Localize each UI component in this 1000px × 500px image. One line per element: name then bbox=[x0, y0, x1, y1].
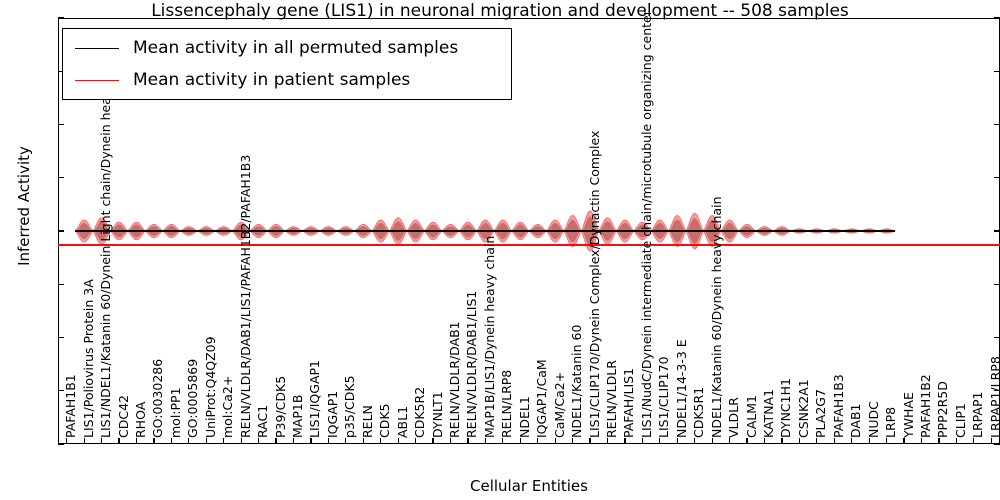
permuted-mean-segment bbox=[826, 230, 843, 232]
permuted-mean-segment bbox=[669, 230, 686, 232]
permuted-mean-segment bbox=[145, 230, 162, 232]
permuted-mean-segment bbox=[424, 230, 441, 232]
legend-item-patient: Mean activity in patient samples bbox=[75, 65, 410, 95]
permuted-mean-segment bbox=[546, 230, 563, 232]
permuted-mean-segment bbox=[198, 230, 215, 232]
permuted-mean-segment bbox=[860, 230, 877, 232]
permuted-mean-segment bbox=[878, 230, 895, 232]
permuted-mean-segment bbox=[302, 230, 319, 232]
chart-title: Lissencephaly gene (LIS1) in neuronal mi… bbox=[0, 1, 1000, 21]
permuted-mean-segment bbox=[163, 230, 180, 232]
permuted-mean-segment bbox=[355, 230, 372, 232]
permuted-mean-segment bbox=[686, 230, 703, 232]
permuted-mean-segment bbox=[808, 230, 825, 232]
permuted-mean-segment bbox=[128, 230, 145, 232]
permuted-mean-segment bbox=[407, 230, 424, 232]
permuted-mean-segment bbox=[180, 230, 197, 232]
chart-root: Lissencephaly gene (LIS1) in neuronal mi… bbox=[0, 0, 1000, 500]
legend-label-patient: Mean activity in patient samples bbox=[133, 70, 410, 90]
permuted-mean-segment bbox=[442, 230, 459, 232]
permuted-mean-segment bbox=[285, 230, 302, 232]
permuted-mean-segment bbox=[773, 230, 790, 232]
legend-item-permuted: Mean activity in all permuted samples bbox=[75, 33, 458, 63]
permuted-mean-segment bbox=[791, 230, 808, 232]
patient-mean-line bbox=[58, 244, 1000, 246]
permuted-mean-segment bbox=[843, 230, 860, 232]
permuted-mean-segment bbox=[372, 230, 389, 232]
legend-line-permuted-icon bbox=[75, 48, 119, 49]
permuted-mean-segment bbox=[616, 230, 633, 232]
permuted-mean-segment bbox=[267, 230, 284, 232]
legend-label-permuted: Mean activity in all permuted samples bbox=[133, 38, 458, 58]
legend-line-patient-icon bbox=[75, 80, 119, 81]
legend: Mean activity in all permuted samples Me… bbox=[62, 28, 512, 100]
permuted-mean-segment bbox=[337, 230, 354, 232]
permuted-mean-segment bbox=[512, 230, 529, 232]
permuted-mean-segment bbox=[389, 230, 406, 232]
permuted-mean-segment bbox=[215, 230, 232, 232]
permuted-mean-segment bbox=[564, 230, 581, 232]
permuted-mean-segment bbox=[529, 230, 546, 232]
permuted-mean-segment bbox=[75, 230, 92, 232]
permuted-mean-segment bbox=[320, 230, 337, 232]
permuted-mean-segment bbox=[494, 230, 511, 232]
permuted-mean-segment bbox=[756, 230, 773, 232]
permuted-mean-segment bbox=[459, 230, 476, 232]
permuted-mean-segment bbox=[477, 230, 494, 232]
permuted-mean-segment bbox=[738, 230, 755, 232]
